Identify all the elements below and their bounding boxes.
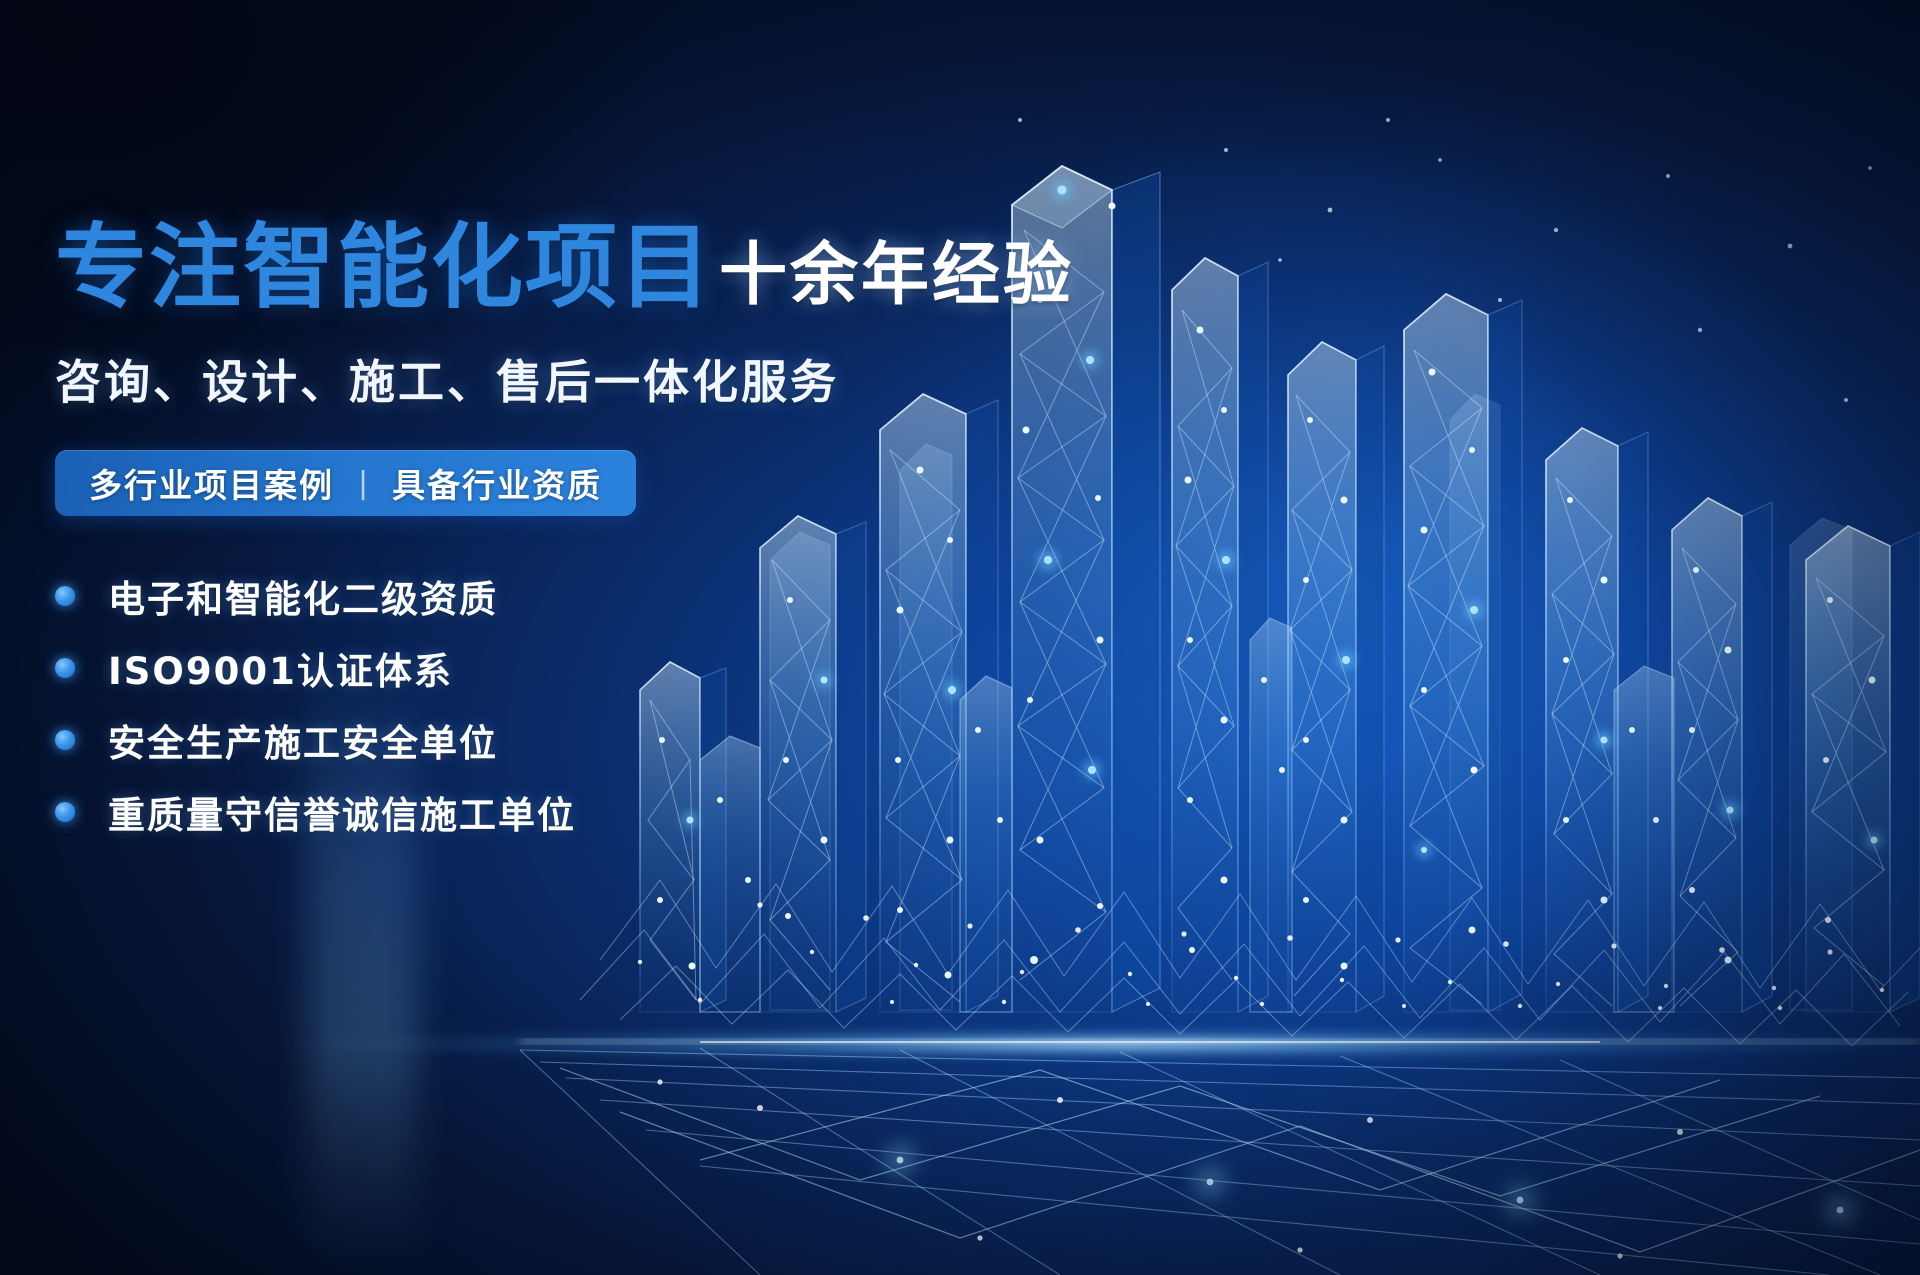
list-item: 重质量守信誉诚信施工单位 [55, 776, 1035, 848]
headline-main-text: 专注智能化项目 [55, 222, 713, 314]
bullet-dot-icon [55, 802, 75, 822]
bullet-dot-icon [55, 658, 75, 678]
list-item-label: 重质量守信誉诚信施工单位 [108, 785, 576, 839]
list-item-label: ISO9001认证体系 [108, 641, 453, 695]
list-item-label: 电子和智能化二级资质 [108, 569, 498, 623]
list-item-label: 安全生产施工安全单位 [108, 713, 498, 767]
headline-accent-text: 十余年经验 [719, 242, 1074, 314]
badge-left-label: 多行业项目案例 [89, 459, 334, 507]
bullet-dot-icon [55, 586, 75, 606]
badge-right-label: 具备行业资质 [392, 459, 602, 507]
list-item: 安全生产施工安全单位 [55, 704, 1035, 776]
headline: 专注智能化项目 十余年经验 [55, 222, 1035, 314]
feature-list: 电子和智能化二级资质 ISO9001认证体系 安全生产施工安全单位 重质量守信誉… [55, 560, 1035, 848]
list-item: 电子和智能化二级资质 [55, 560, 1035, 632]
subtitle: 咨询、设计、施工、售后一体化服务 [55, 346, 1035, 412]
qualification-badge[interactable]: 多行业项目案例 | 具备行业资质 [55, 450, 636, 516]
list-item: ISO9001认证体系 [55, 632, 1035, 704]
promo-banner: 专注智能化项目 十余年经验 咨询、设计、施工、售后一体化服务 多行业项目案例 |… [0, 0, 1920, 1275]
bullet-dot-icon [55, 730, 75, 750]
banner-content: 专注智能化项目 十余年经验 咨询、设计、施工、售后一体化服务 多行业项目案例 |… [55, 222, 1035, 848]
badge-separator: | [358, 466, 368, 501]
